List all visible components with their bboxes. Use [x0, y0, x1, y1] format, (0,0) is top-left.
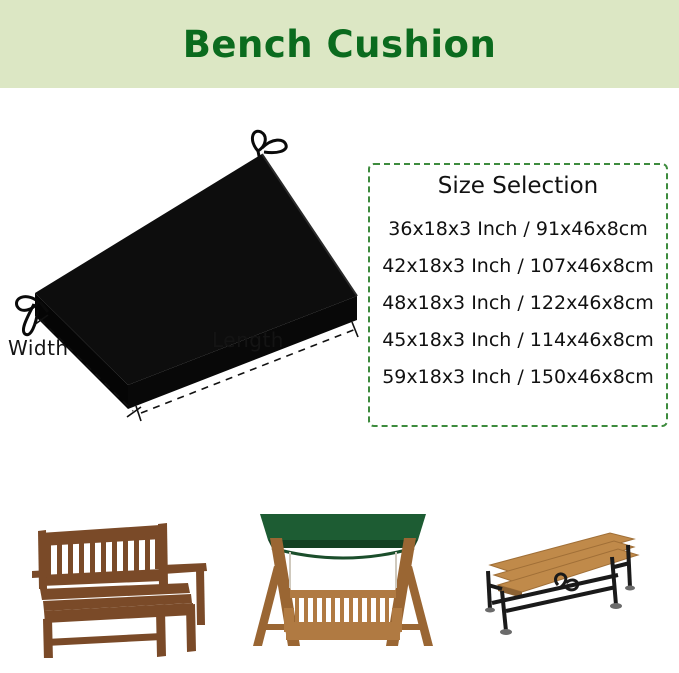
size-option-5[interactable]: 59x18x3 Inch / 150x46x8cm	[370, 359, 666, 396]
size-option-3[interactable]: 48x18x3 Inch / 122x46x8cm	[370, 285, 666, 322]
backless-bench-svg	[462, 513, 667, 638]
size-option-2[interactable]: 42x18x3 Inch / 107x46x8cm	[370, 248, 666, 285]
width-label: Width	[8, 336, 69, 360]
product-photo-porch-swing	[248, 496, 438, 661]
page-title: Bench Cushion	[183, 26, 497, 63]
wooden-garden-bench-svg	[10, 493, 225, 658]
size-option-4[interactable]: 45x18x3 Inch / 114x46x8cm	[370, 322, 666, 359]
size-option-1[interactable]: 36x18x3 Inch / 91x46x8cm	[370, 211, 666, 248]
length-label: Length	[212, 328, 284, 352]
porch-swing-svg	[248, 496, 438, 656]
cushion-diagram-svg	[0, 88, 370, 428]
size-option-list: 36x18x3 Inch / 91x46x8cm 42x18x3 Inch / …	[370, 211, 666, 396]
product-photo-backless-bench	[462, 513, 667, 643]
product-photo-wooden-garden-bench	[10, 493, 225, 663]
swing-canopy	[260, 514, 426, 540]
size-selection-box: Size Selection 36x18x3 Inch / 91x46x8cm …	[368, 163, 668, 427]
size-selection-heading: Size Selection	[438, 173, 599, 199]
product-photo-strip	[0, 490, 679, 673]
cushion-illustration: Width Length	[0, 88, 370, 428]
header-band: Bench Cushion	[0, 0, 679, 88]
